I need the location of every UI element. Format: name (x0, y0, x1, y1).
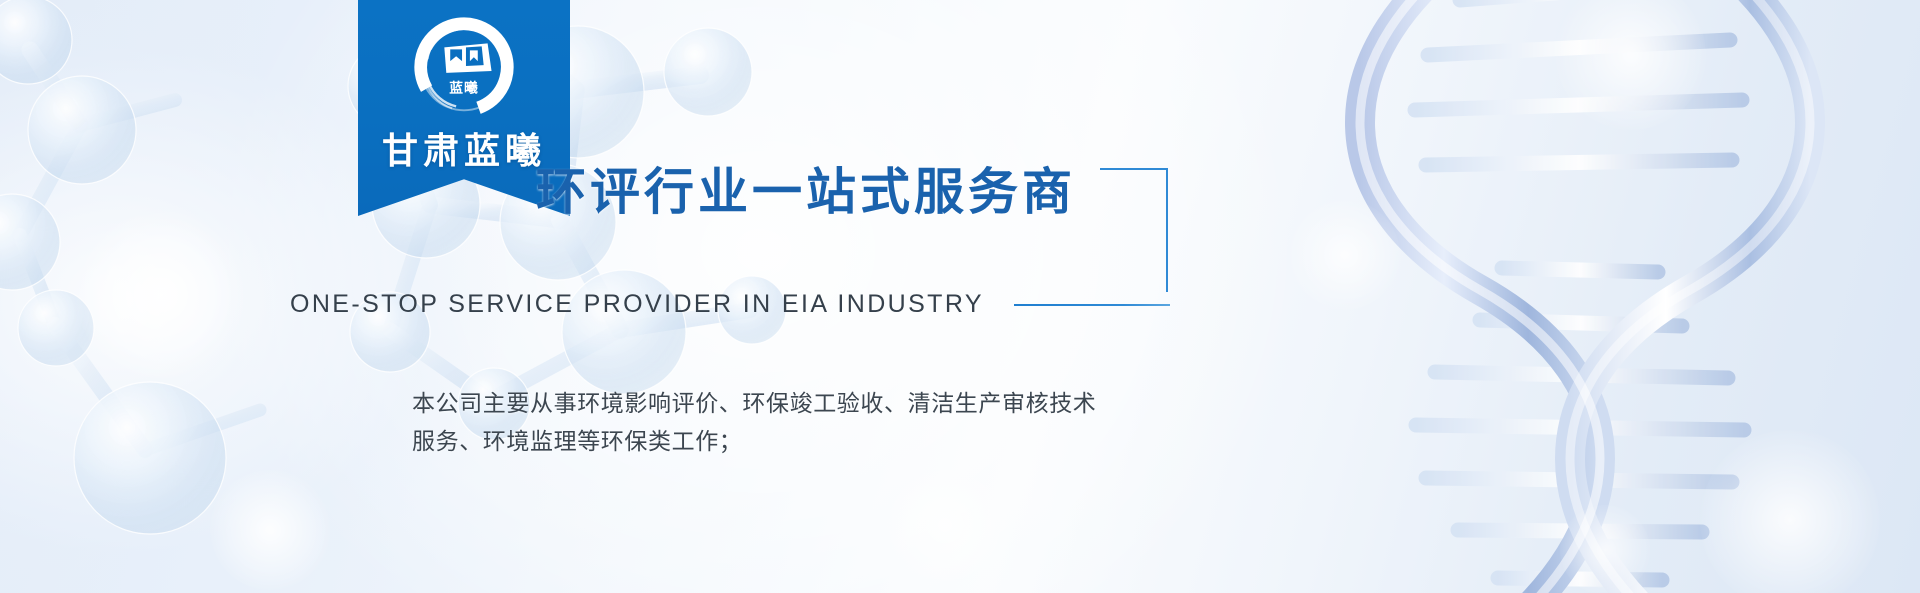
hero-banner: 蓝曦 甘肃蓝曦 环评行业一站式服务商 ONE-STOP SERVICE PROV… (0, 0, 1920, 593)
svg-text:蓝曦: 蓝曦 (449, 80, 478, 97)
title-connector-bracket (1100, 168, 1168, 292)
subtitle-rule (1014, 304, 1170, 306)
subtitle-row: ONE-STOP SERVICE PROVIDER IN EIA INDUSTR… (290, 290, 1170, 319)
company-emblem-icon: 蓝曦 (405, 10, 523, 128)
bokeh-light (880, 460, 1010, 590)
banner-description: 本公司主要从事环境影响评价、环保竣工验收、清洁生产审核技术 服务、环境监理等环保… (412, 386, 1212, 462)
bokeh-light (210, 470, 330, 590)
bokeh-light (1560, 505, 1650, 593)
bokeh-light (76, 210, 246, 380)
dna-helix-icon (1230, 0, 1920, 593)
bokeh-light (1556, 0, 1706, 130)
bokeh-light (1290, 200, 1400, 310)
headline-block: 环评行业一站式服务商 (536, 165, 1176, 218)
description-line-2: 服务、环境监理等环保类工作； (412, 424, 1212, 462)
description-line-1: 本公司主要从事环境影响评价、环保竣工验收、清洁生产审核技术 (412, 386, 1212, 424)
bokeh-light (1700, 430, 1880, 593)
banner-title: 环评行业一站式服务商 (536, 165, 1176, 218)
banner-subtitle-en: ONE-STOP SERVICE PROVIDER IN EIA INDUSTR… (290, 290, 984, 319)
